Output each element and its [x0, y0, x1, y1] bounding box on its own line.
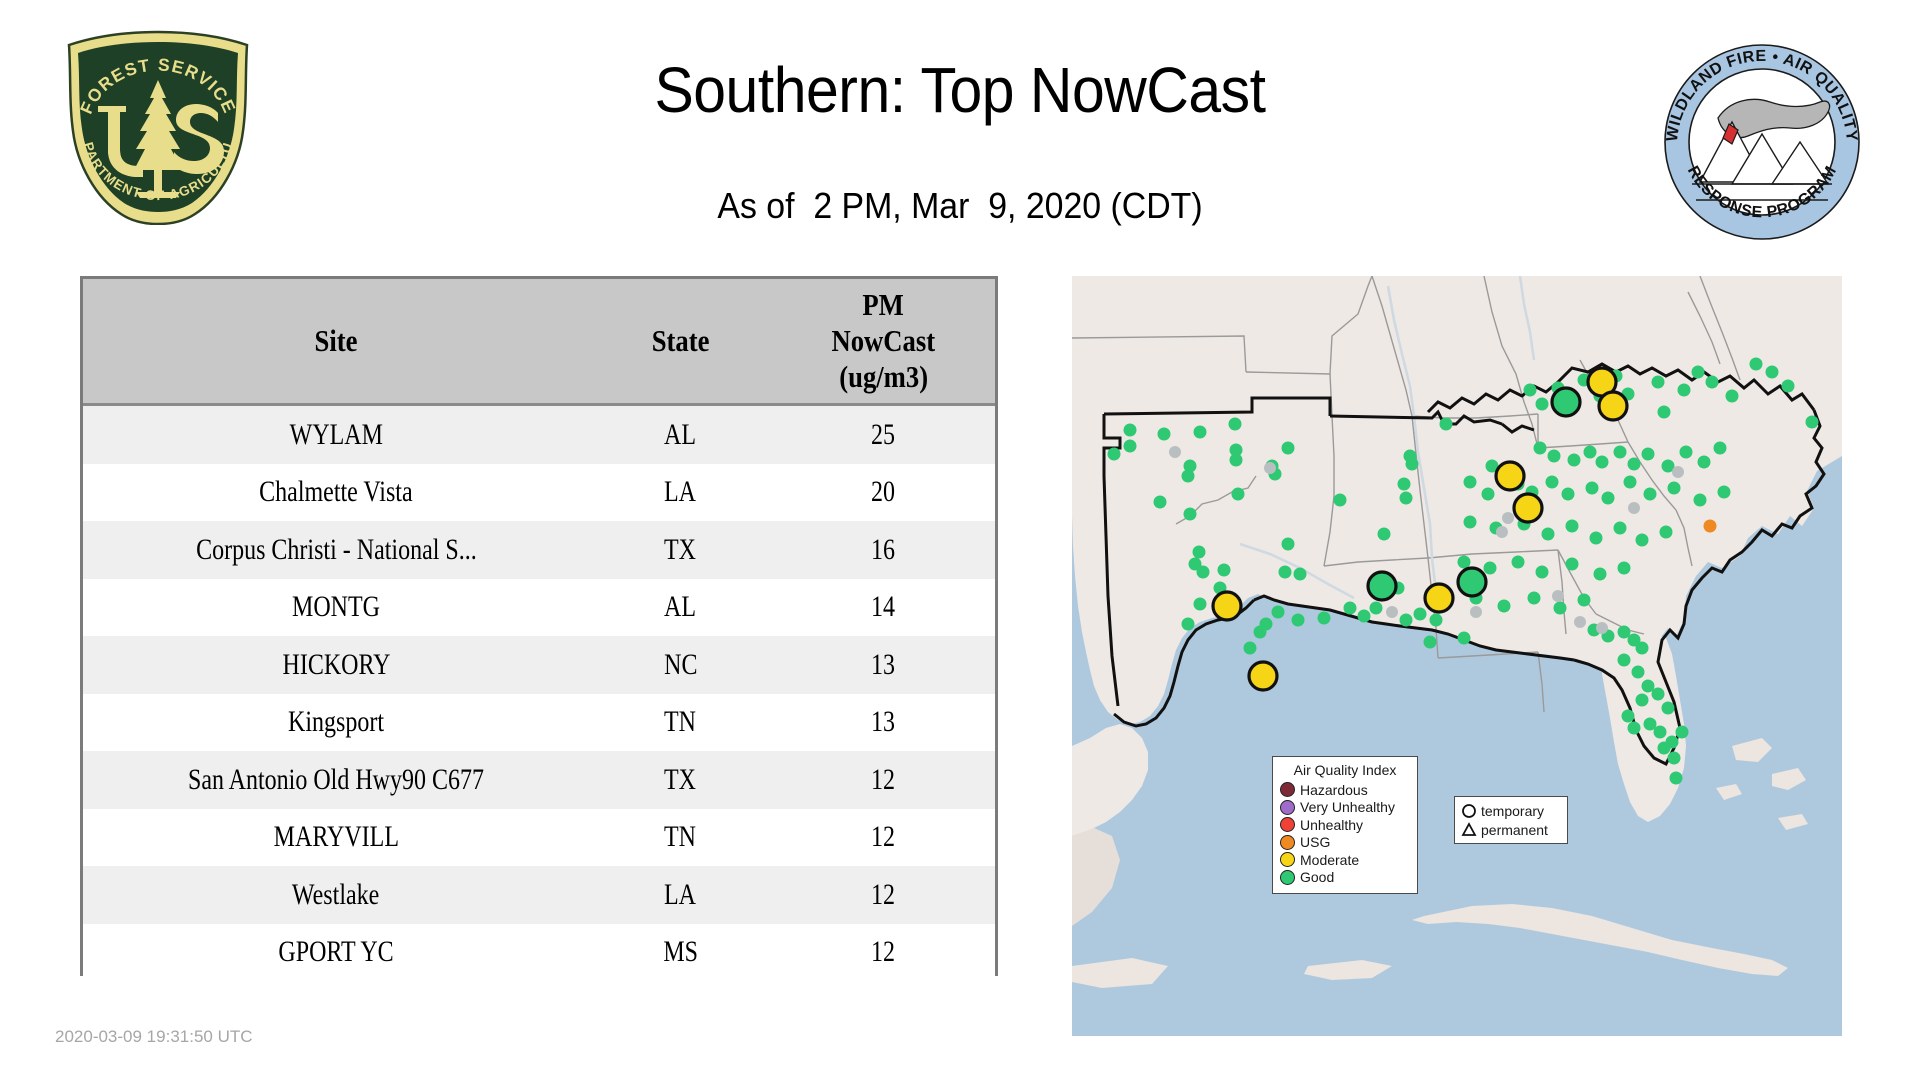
column-header-pm-line2: NowCast — [831, 324, 935, 359]
table-body: WYLAMAL25Chalmette VistaLA20Corpus Chris… — [83, 405, 995, 982]
site-marker-chalmette-vista[interactable] — [1425, 584, 1453, 612]
aqi-legend-rows: HazardousVery UnhealthyUnhealthyUSGModer… — [1280, 781, 1410, 886]
table-row[interactable]: San Antonio Old Hwy90 C677TX12 — [83, 751, 995, 809]
aqi-swatch-icon — [1280, 782, 1295, 797]
state-cell: LA — [589, 866, 771, 924]
aqi-legend-item: Unhealthy — [1280, 816, 1410, 834]
value-cell: 12 — [772, 924, 995, 982]
site-cell-label: GPORT YC — [278, 935, 393, 969]
value-cell-label: 12 — [871, 763, 895, 797]
table-row[interactable]: KingsportTN13 — [83, 694, 995, 752]
marker-type-legend: temporary permanent — [1454, 796, 1568, 844]
value-cell: 16 — [772, 521, 995, 579]
aqi-swatch-icon — [1280, 817, 1295, 832]
column-header-pm-line1: PM — [863, 288, 904, 323]
state-cell-label: TN — [664, 705, 696, 739]
value-cell: 13 — [772, 636, 995, 694]
state-cell-label: AL — [664, 418, 696, 452]
site-marker-westlake[interactable] — [1368, 572, 1396, 600]
value-cell-label: 13 — [871, 648, 895, 682]
marker-legend-label-permanent: permanent — [1481, 822, 1548, 838]
nowcast-table: Site State PM NowCast (ug/m3) WYLAMAL25C… — [83, 279, 995, 981]
state-cell: MS — [589, 924, 771, 982]
state-cell-label: AL — [664, 590, 696, 624]
value-cell-label: 12 — [871, 820, 895, 854]
state-cell-label: TX — [664, 533, 696, 567]
site-cell-label: Kingsport — [288, 705, 384, 739]
site-marker-corpus-christi[interactable] — [1249, 662, 1277, 690]
state-cell: AL — [589, 405, 771, 464]
aqi-legend-label: Moderate — [1300, 853, 1359, 867]
air-quality-map[interactable]: Air Quality Index HazardousVery Unhealth… — [1072, 276, 1842, 1036]
site-cell-label: San Antonio Old Hwy90 C677 — [188, 763, 484, 797]
table-row[interactable]: MARYVILLTN12 — [83, 809, 995, 867]
value-cell: 13 — [772, 694, 995, 752]
site-marker-montg[interactable] — [1514, 494, 1542, 522]
aqi-legend-title: Air Quality Index — [1280, 762, 1410, 778]
aqi-legend-label: Hazardous — [1300, 783, 1368, 797]
aqi-swatch-icon — [1280, 835, 1295, 850]
value-cell: 14 — [772, 579, 995, 637]
state-cell-label: TX — [664, 763, 696, 797]
slide-root: FOREST SERVICE DEPARTMENT OF AGRICULTURE — [0, 0, 1920, 1080]
site-cell: Kingsport — [83, 694, 589, 752]
state-cell-label: TN — [664, 820, 696, 854]
aqi-swatch-icon — [1280, 870, 1295, 885]
value-cell-label: 14 — [871, 590, 895, 624]
site-cell: MARYVILL — [83, 809, 589, 867]
state-cell: TX — [589, 751, 771, 809]
map-canvas[interactable] — [1072, 276, 1842, 1036]
aqi-legend-label: Very Unhealthy — [1300, 800, 1395, 814]
page-title: Southern: Top NowCast — [77, 58, 1843, 122]
site-marker-maryvill[interactable] — [1552, 388, 1580, 416]
table-row[interactable]: WestlakeLA12 — [83, 866, 995, 924]
aqi-legend-item: Moderate — [1280, 851, 1410, 869]
column-header-pm-nowcast[interactable]: PM NowCast (ug/m3) — [772, 279, 995, 405]
column-header-site-label: Site — [315, 324, 358, 359]
site-cell: HICKORY — [83, 636, 589, 694]
aqi-legend-label: USG — [1300, 835, 1330, 849]
site-cell: San Antonio Old Hwy90 C677 — [83, 751, 589, 809]
value-cell: 12 — [772, 809, 995, 867]
state-cell: LA — [589, 464, 771, 522]
site-cell-label: MONTG — [292, 590, 380, 624]
top-nowcast-table: Site State PM NowCast (ug/m3) WYLAMAL25C… — [80, 276, 998, 976]
value-cell: 12 — [772, 751, 995, 809]
state-cell: TN — [589, 694, 771, 752]
table-header-row: Site State PM NowCast (ug/m3) — [83, 279, 995, 405]
value-cell: 12 — [772, 866, 995, 924]
state-cell: NC — [589, 636, 771, 694]
site-cell-label: Chalmette Vista — [259, 475, 412, 509]
column-header-state-label: State — [651, 324, 709, 359]
site-cell: Chalmette Vista — [83, 464, 589, 522]
state-cell-label: MS — [663, 935, 698, 969]
value-cell-label: 20 — [871, 475, 895, 509]
aqi-legend-item: Hazardous — [1280, 781, 1410, 799]
value-cell-label: 12 — [871, 935, 895, 969]
site-marker-san-antonio[interactable] — [1213, 592, 1241, 620]
state-cell: TX — [589, 521, 771, 579]
table-row[interactable]: HICKORYNC13 — [83, 636, 995, 694]
permanent-triangle-icon — [1461, 822, 1477, 838]
site-cell: WYLAM — [83, 405, 589, 464]
table-row[interactable]: GPORT YCMS12 — [83, 924, 995, 982]
site-cell: MONTG — [83, 579, 589, 637]
site-cell-label: HICKORY — [282, 648, 390, 682]
aqi-legend-item: Very Unhealthy — [1280, 799, 1410, 817]
column-header-pm-line3: (ug/m3) — [839, 360, 928, 395]
aqi-legend: Air Quality Index HazardousVery Unhealth… — [1272, 756, 1418, 894]
site-marker-hickory[interactable] — [1599, 392, 1627, 420]
table-row[interactable]: WYLAMAL25 — [83, 405, 995, 464]
aqi-swatch-icon — [1280, 852, 1295, 867]
site-cell-label: WYLAM — [289, 418, 382, 452]
site-cell: GPORT YC — [83, 924, 589, 982]
monitor-dot-usg — [1704, 520, 1717, 533]
aqi-legend-label: Good — [1300, 870, 1334, 884]
state-cell: AL — [589, 579, 771, 637]
table-row[interactable]: MONTGAL14 — [83, 579, 995, 637]
site-cell-label: Corpus Christi - National S... — [196, 533, 477, 567]
table-row[interactable]: Chalmette VistaLA20 — [83, 464, 995, 522]
value-cell-label: 16 — [871, 533, 895, 567]
value-cell-label: 13 — [871, 705, 895, 739]
marker-legend-row-permanent: permanent — [1461, 820, 1561, 839]
state-cell-label: LA — [664, 878, 696, 912]
value-cell: 25 — [772, 405, 995, 464]
site-marker-wylam[interactable] — [1496, 462, 1524, 490]
aqi-legend-item: Good — [1280, 869, 1410, 887]
site-cell-label: MARYVILL — [273, 820, 398, 854]
value-cell-label: 12 — [871, 878, 895, 912]
state-cell-label: NC — [664, 648, 697, 682]
site-marker-gport-yc[interactable] — [1458, 568, 1486, 596]
aqi-legend-item: USG — [1280, 834, 1410, 852]
site-cell-label: Westlake — [292, 878, 379, 912]
value-cell: 20 — [772, 464, 995, 522]
marker-legend-row-temporary: temporary — [1461, 801, 1561, 820]
state-cell-label: LA — [664, 475, 696, 509]
aqi-legend-label: Unhealthy — [1300, 818, 1363, 832]
temporary-circle-icon — [1461, 803, 1477, 819]
site-cell: Westlake — [83, 866, 589, 924]
column-header-state[interactable]: State — [589, 279, 771, 405]
marker-legend-label-temporary: temporary — [1481, 803, 1544, 819]
value-cell-label: 25 — [871, 418, 895, 452]
table-row[interactable]: Corpus Christi - National S...TX16 — [83, 521, 995, 579]
state-cell: TN — [589, 809, 771, 867]
generation-timestamp: 2020-03-09 19:31:50 UTC — [55, 1027, 253, 1047]
page-subtitle: As of 2 PM, Mar 9, 2020 (CDT) — [58, 185, 1863, 227]
site-cell: Corpus Christi - National S... — [83, 521, 589, 579]
aqi-swatch-icon — [1280, 800, 1295, 815]
column-header-site[interactable]: Site — [83, 279, 589, 405]
